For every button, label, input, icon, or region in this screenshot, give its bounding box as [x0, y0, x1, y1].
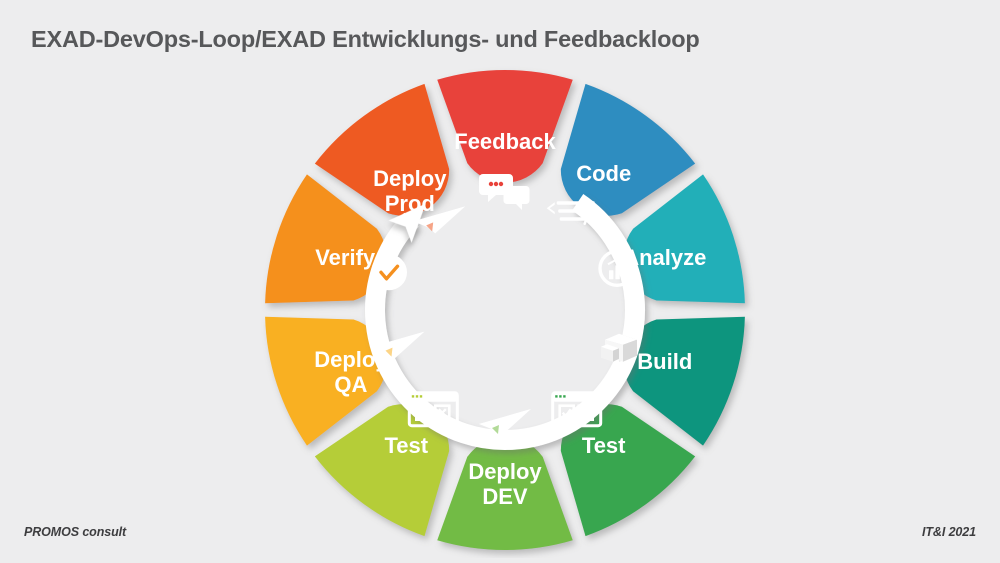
- segment-shape[interactable]: [437, 70, 573, 183]
- segment-label-verify: Verify: [315, 245, 376, 270]
- segment-label-deploy-prod: DeployProd: [373, 166, 447, 216]
- wheel-segment-code[interactable]: [561, 84, 695, 216]
- wheel-segment-feedback[interactable]: [437, 70, 573, 183]
- slide-canvas: EXAD-DevOps-Loop/EXAD Entwicklungs- und …: [0, 0, 1000, 557]
- segment-label-analyze: Analyze: [623, 245, 706, 270]
- devops-loop-diagram: FeedbackCodeAnalyzeBuildTestDeployDEVTes…: [232, 62, 778, 558]
- segment-label-code: Code: [576, 161, 631, 186]
- segment-label-test-right: Test: [582, 433, 626, 458]
- check-circle-icon: [371, 254, 407, 290]
- cycle-arrow-band: [375, 202, 635, 440]
- footer-left-text: PROMOS consult: [24, 525, 126, 539]
- segment-label-build: Build: [637, 349, 692, 374]
- segment-shape[interactable]: [561, 84, 695, 216]
- page-title: EXAD-DevOps-Loop/EXAD Entwicklungs- und …: [31, 26, 700, 53]
- cubes-icon: [601, 330, 640, 363]
- segment-label-test-left: Test: [384, 433, 428, 458]
- segment-label-feedback: Feedback: [454, 129, 556, 154]
- cycle-arrow-ring: [375, 193, 635, 440]
- wheel-svg: FeedbackCodeAnalyzeBuildTestDeployDEVTes…: [232, 62, 778, 558]
- footer-right-text: IT&I 2021: [922, 525, 976, 539]
